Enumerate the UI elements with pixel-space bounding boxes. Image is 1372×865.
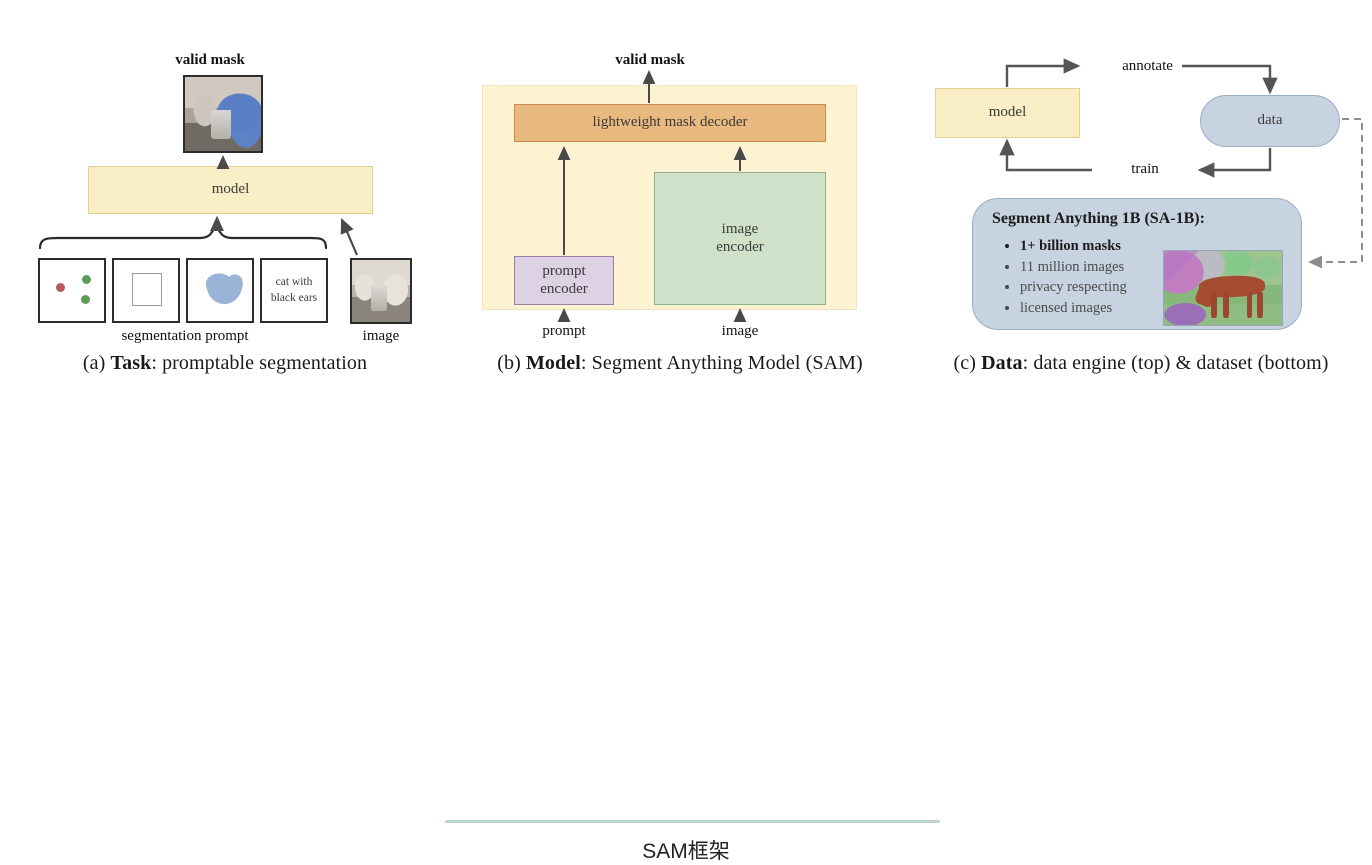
panel-b-connectors [450, 0, 910, 400]
footer-divider-rule [445, 820, 940, 823]
panel-c-data: model data annotate train Segment Anythi… [910, 0, 1372, 400]
figure-caption-text: SAM框架 [0, 835, 1372, 865]
figure-footer: SAM框架 [0, 400, 1372, 480]
panel-b-caption-prefix: (b) [497, 352, 526, 374]
panel-a-connectors [0, 0, 450, 400]
panel-b-caption-rest: : Segment Anything Model (SAM) [581, 352, 863, 374]
panel-c-caption-bold: Data [981, 352, 1023, 374]
panel-a-caption-rest: : promptable segmentation [151, 352, 367, 374]
panel-c-caption-rest: : data engine (top) & dataset (bottom) [1023, 352, 1329, 374]
panel-b-caption-bold: Model [526, 352, 581, 374]
panel-b-model: valid mask lightweight mask decoder imag… [450, 0, 910, 400]
panel-a-caption-bold: Task [111, 352, 152, 374]
panel-b-caption: (b) Model: Segment Anything Model (SAM) [450, 352, 910, 375]
panel-a-caption-prefix: (a) [83, 352, 111, 374]
panel-a-task: valid mask model cat with black ears [0, 0, 450, 400]
figure-sam-framework: valid mask model cat with black ears [0, 0, 1372, 400]
panel-c-connectors [910, 0, 1372, 400]
panel-c-caption: (c) Data: data engine (top) & dataset (b… [910, 352, 1372, 375]
panel-a-caption: (a) Task: promptable segmentation [0, 352, 450, 375]
panel-c-caption-prefix: (c) [953, 352, 981, 374]
